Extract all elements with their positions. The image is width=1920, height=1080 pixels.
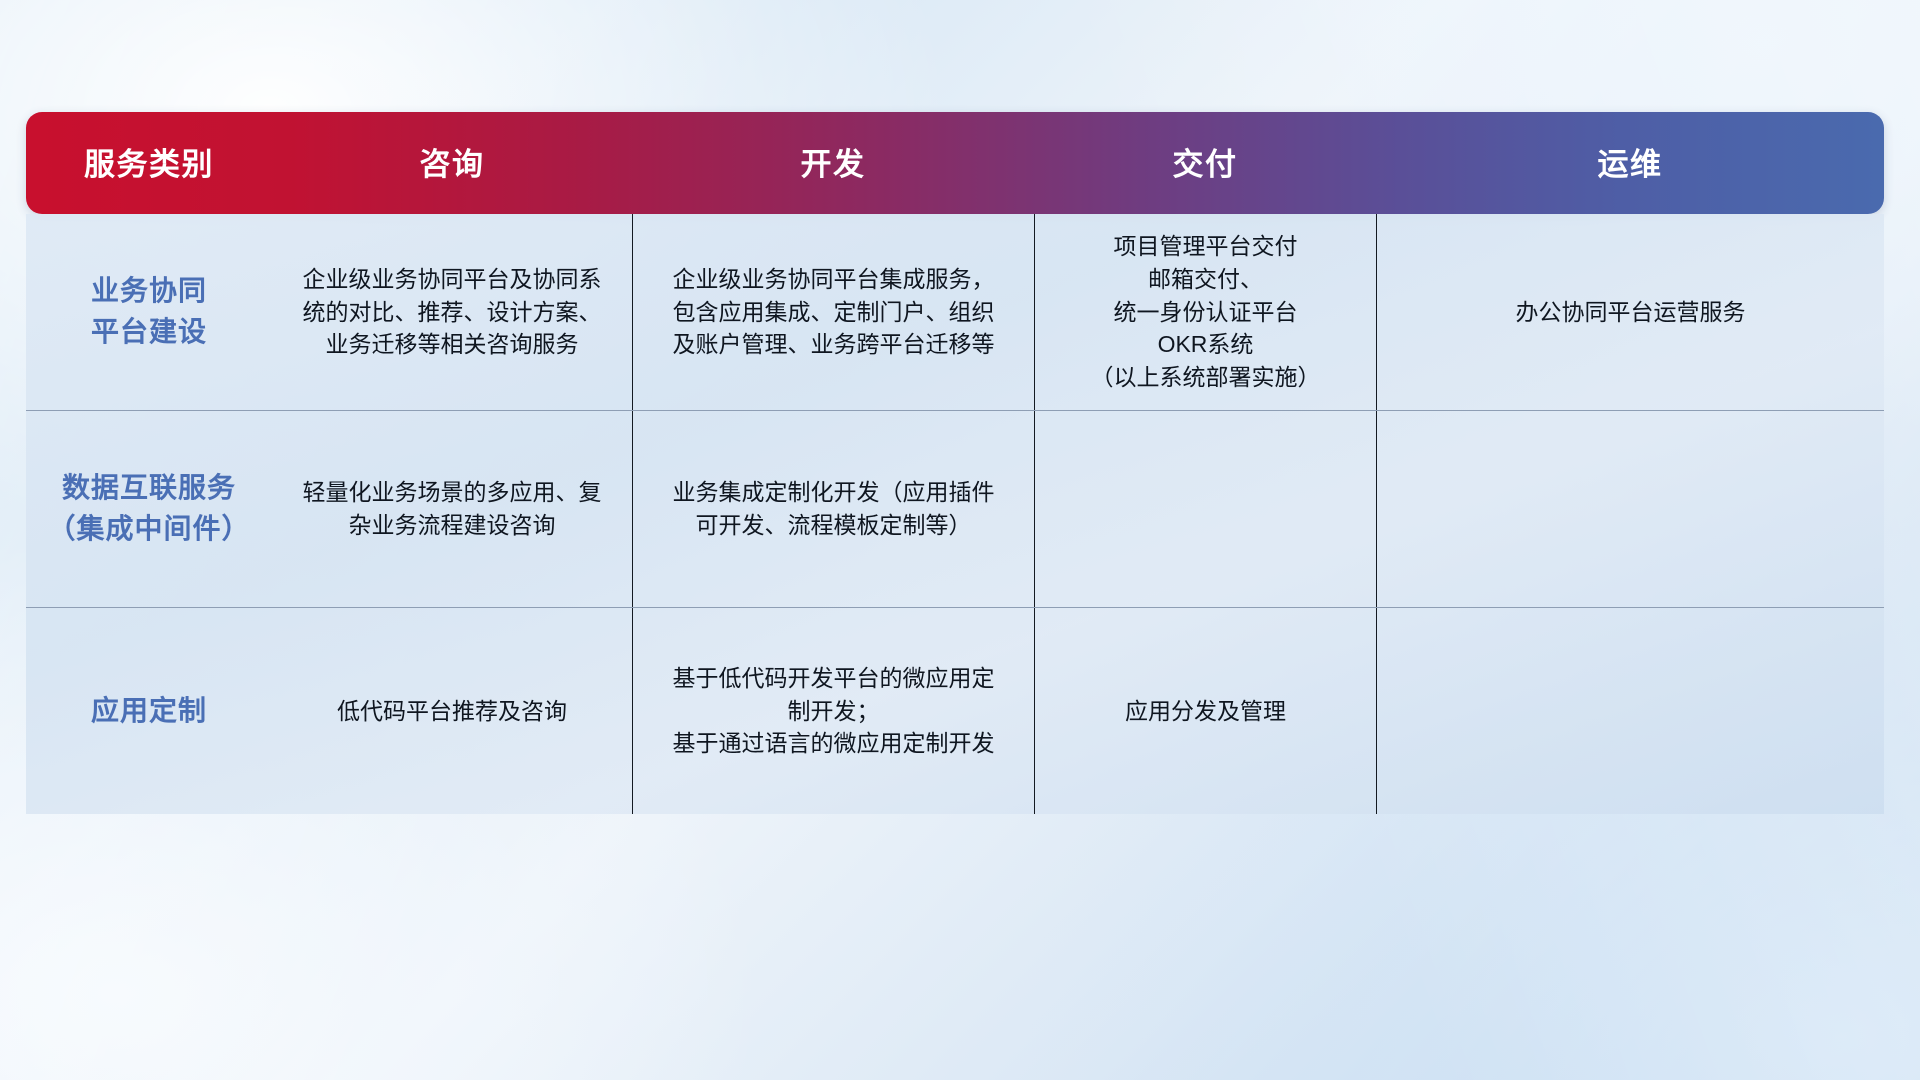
cell-delivery: 项目管理平台交付 邮箱交付、 统一身份认证平台 OKR系统 （以上系统部署实施） xyxy=(1034,214,1376,410)
table-header-row: 服务类别 咨询 开发 交付 运维 xyxy=(26,112,1884,214)
service-matrix-table: 服务类别 咨询 开发 交付 运维 业务协同 平台建设 企业级业务协同平台及协同系… xyxy=(26,112,1884,814)
table-body: 业务协同 平台建设 企业级业务协同平台及协同系 统的对比、推荐、设计方案、 业务… xyxy=(26,214,1884,814)
cell-category: 应用定制 xyxy=(26,608,272,814)
cell-category: 业务协同 平台建设 xyxy=(26,214,272,410)
slide-canvas: 服务类别 咨询 开发 交付 运维 业务协同 平台建设 企业级业务协同平台及协同系… xyxy=(0,0,1920,1080)
cell-development: 业务集成定制化开发（应用插件 可开发、流程模板定制等） xyxy=(632,411,1034,607)
cell-operations: 办公协同平台运营服务 xyxy=(1376,214,1884,410)
cell-delivery xyxy=(1034,411,1376,607)
cell-development: 基于低代码开发平台的微应用定 制开发； 基于通过语言的微应用定制开发 xyxy=(632,608,1034,814)
cell-consulting: 轻量化业务场景的多应用、复 杂业务流程建设咨询 xyxy=(272,411,632,607)
cell-operations xyxy=(1376,608,1884,814)
column-header-delivery: 交付 xyxy=(1034,112,1376,214)
cell-category: 数据互联服务 （集成中间件） xyxy=(26,411,272,607)
cell-development: 企业级业务协同平台集成服务， 包含应用集成、定制门户、组织 及账户管理、业务跨平… xyxy=(632,214,1034,410)
column-header-operations: 运维 xyxy=(1376,112,1884,214)
table-row: 应用定制 低代码平台推荐及咨询 基于低代码开发平台的微应用定 制开发； 基于通过… xyxy=(26,608,1884,814)
table-row: 业务协同 平台建设 企业级业务协同平台及协同系 统的对比、推荐、设计方案、 业务… xyxy=(26,214,1884,411)
column-header-development: 开发 xyxy=(632,112,1034,214)
cell-consulting: 企业级业务协同平台及协同系 统的对比、推荐、设计方案、 业务迁移等相关咨询服务 xyxy=(272,214,632,410)
column-header-category: 服务类别 xyxy=(26,112,272,214)
cell-delivery: 应用分发及管理 xyxy=(1034,608,1376,814)
column-header-consulting: 咨询 xyxy=(272,112,632,214)
cell-consulting: 低代码平台推荐及咨询 xyxy=(272,608,632,814)
cell-operations xyxy=(1376,411,1884,607)
table-row: 数据互联服务 （集成中间件） 轻量化业务场景的多应用、复 杂业务流程建设咨询 业… xyxy=(26,411,1884,608)
